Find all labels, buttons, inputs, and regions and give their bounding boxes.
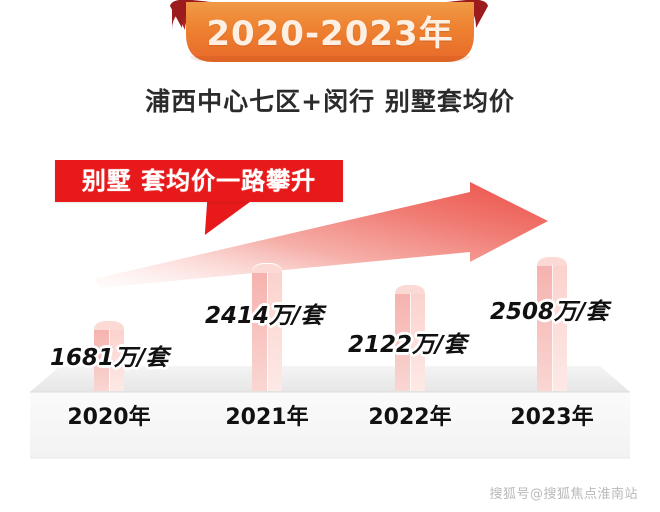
bar-face-left [252,272,267,391]
axis-label-2020: 2020年 [59,399,159,431]
bar-2023 [537,265,567,391]
infographic-canvas: 2020-2023年 浦西中心七区+闵行 别墅套均价 [0,0,660,512]
callout-banner: 别墅 套均价一路攀升 [55,160,343,202]
watermark: 搜狐号@搜狐焦点淮南站 [489,483,638,502]
bar-highlight [552,265,553,391]
ribbon-shape-svg [0,0,660,74]
axis-label-2021: 2021年 [217,399,317,431]
ribbon-banner: 2020-2023年 [0,0,660,72]
bar-value-label-2023: 2508万/套 [490,292,608,326]
bar-face-right [267,272,282,391]
callout-tail [205,201,251,235]
bar-face-right [552,265,567,391]
axis-label-2022: 2022年 [360,399,460,431]
callout-text: 别墅 套均价一路攀升 [55,160,343,202]
bar-value-label-2020: 1681万/套 [50,338,168,372]
bar-face-left [537,265,552,391]
bar-highlight [267,272,268,391]
growth-arrow [0,0,660,512]
bar-value-label-2021: 2414万/套 [205,296,323,330]
stage-platform [0,0,660,512]
bar-value-label-2022: 2122万/套 [348,325,466,359]
page-subtitle: 浦西中心七区+闵行 别墅套均价 [0,82,660,118]
axis-label-2023: 2023年 [502,399,602,431]
bar-2021 [252,272,282,391]
